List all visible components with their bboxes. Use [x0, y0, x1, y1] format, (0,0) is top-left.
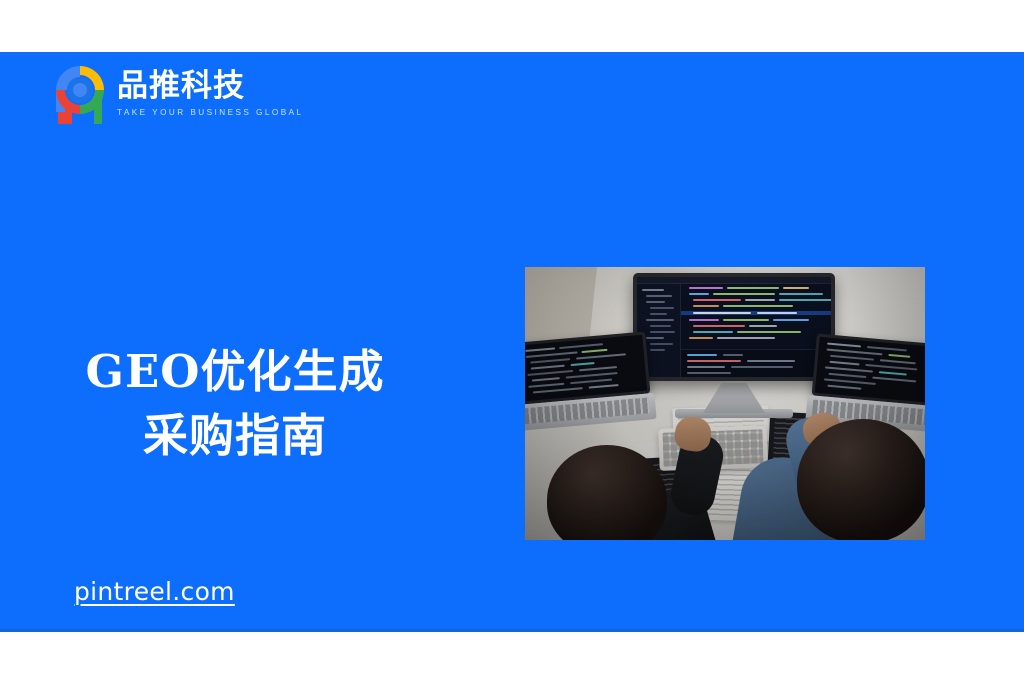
brand-logo-text: 品推科技 TAKE YOUR BUSINESS GLOBAL — [117, 68, 304, 117]
stage-bottom-edge — [0, 629, 1024, 632]
slide-canvas: GEO优化生成 采购指南 pintreel.com — [0, 0, 1024, 683]
brand-logo[interactable]: 品推科技 TAKE YOUR BUSINESS GLOBAL — [52, 62, 304, 124]
page-title-line-2: 采购指南 — [0, 404, 470, 468]
page-title-line-1: GEO优化生成 — [0, 340, 470, 404]
brand-tagline: TAKE YOUR BUSINESS GLOBAL — [117, 108, 304, 118]
brand-name-cn: 品推科技 — [117, 70, 304, 103]
photo-scene — [525, 267, 925, 540]
photo-vignette — [525, 267, 925, 540]
blue-stage: GEO优化生成 采购指南 pintreel.com — [0, 52, 1024, 632]
hero-photo — [525, 267, 925, 540]
pintreel-logo-icon — [52, 62, 108, 124]
website-url-link[interactable]: pintreel.com — [74, 577, 235, 606]
page-title: GEO优化生成 采购指南 — [0, 340, 470, 468]
